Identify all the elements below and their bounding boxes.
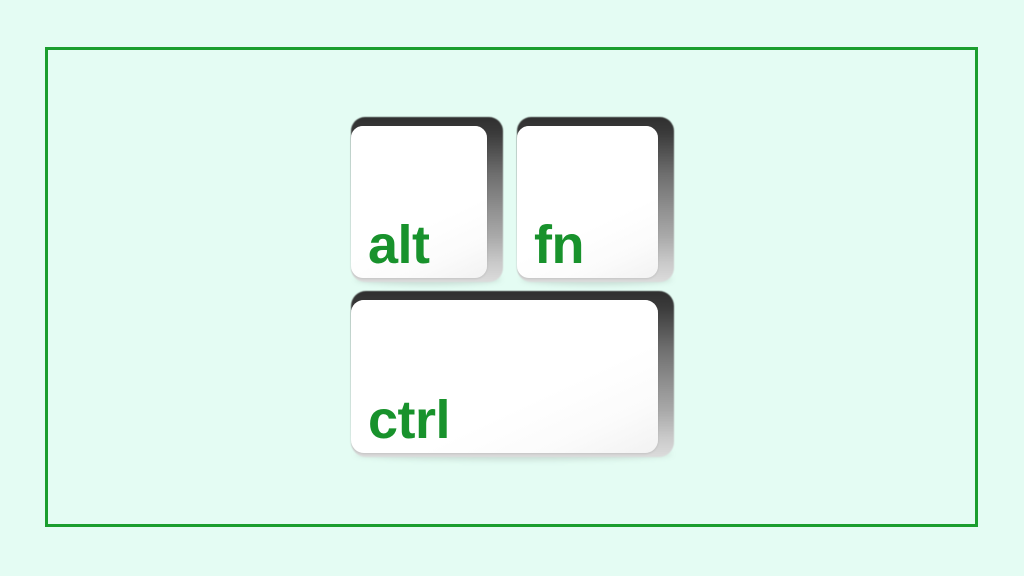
keycap-fn-face: fn [517,126,658,278]
keycap-alt[interactable]: alt [351,117,503,282]
keycap-fn-label: fn [534,218,584,272]
keycap-alt-face: alt [351,126,487,278]
keycap-ctrl[interactable]: ctrl [351,291,674,457]
keycap-illustration: alt fn ctrl [0,0,1024,576]
screenshot-canvas: alt fn ctrl [0,0,1024,576]
keycap-ctrl-label: ctrl [368,393,450,447]
keycap-alt-label: alt [368,218,430,272]
keycap-fn[interactable]: fn [517,117,674,282]
keycap-ctrl-face: ctrl [351,300,658,453]
